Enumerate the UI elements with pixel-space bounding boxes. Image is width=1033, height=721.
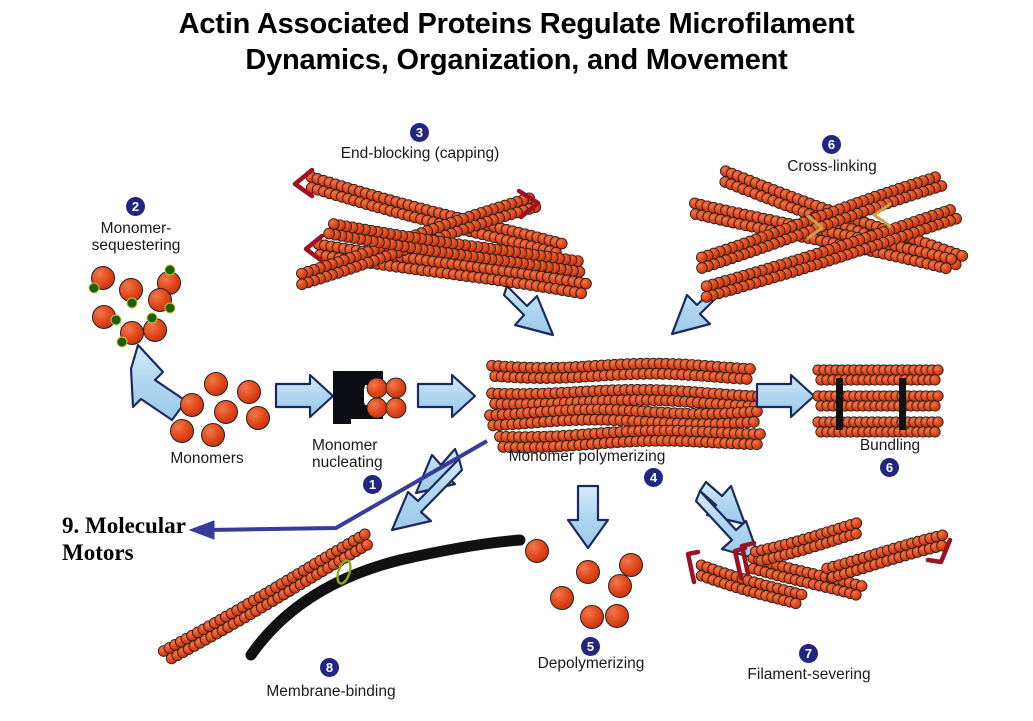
sequestered-monomer <box>144 313 167 342</box>
arrow-to-bundling <box>757 375 814 417</box>
diagram-canvas: Actin Associated Proteins Regulate Micro… <box>0 0 1033 721</box>
label-cross-linking: Cross-linking <box>762 158 902 175</box>
label-monomers: Monomers <box>152 450 262 467</box>
arrow-nucleating-to-polymerizing <box>418 375 475 417</box>
filament <box>487 358 756 384</box>
label-filament-severing: Filament-severing <box>729 666 889 683</box>
badge-bundling: 6 <box>880 458 899 477</box>
label-monomer-nucleating: Monomer nucleating <box>312 437 422 471</box>
monomer-nucleating-group <box>333 371 406 424</box>
label-molecular-motors: 9. Molecular Motors <box>62 512 282 566</box>
sequestered-monomer <box>117 322 144 348</box>
label-membrane-binding: Membrane-binding <box>252 683 410 700</box>
arrow-monomers-to-nucleating <box>276 375 333 417</box>
badge-sequestering: 2 <box>126 197 145 216</box>
arrow-to-severing <box>696 482 760 560</box>
label-monomer-nucleating-line1: Monomer <box>312 437 377 454</box>
badge-nucleating: 1 <box>363 475 382 494</box>
arrow-to-depolymerizing <box>568 486 608 548</box>
badge-depolymerizing: 5 <box>581 637 600 656</box>
bundling-filaments-group <box>813 365 943 437</box>
sequestered-monomer <box>89 267 115 294</box>
membrane-curve <box>251 540 520 655</box>
actin-diagram-artwork <box>0 0 1033 721</box>
badge-membrane-binding: 8 <box>320 658 339 677</box>
label-depolymerizing: Depolymerizing <box>520 655 662 672</box>
sequestered-monomer <box>93 306 122 329</box>
label-monomer-sequestering-line2: sequestering <box>92 237 181 254</box>
badge-crosslinking: 6 <box>822 135 841 154</box>
label-monomer-nucleating-line2: nucleating <box>312 454 383 471</box>
filament <box>813 365 943 385</box>
label-bundling: Bundling <box>835 437 945 454</box>
label-monomer-sequestering: Monomer- sequestering <box>66 220 206 254</box>
crosslinking-filaments-group <box>689 166 967 303</box>
arrow-to-sequestering <box>131 345 186 420</box>
badge-capping: 3 <box>410 123 429 142</box>
filament <box>813 391 943 411</box>
capping-filaments-group <box>295 170 591 299</box>
badge-severing: 7 <box>799 644 818 663</box>
sequestered-monomer <box>120 279 143 309</box>
free-monomers-group <box>171 373 270 447</box>
monomer-sequestering-group <box>89 265 181 347</box>
arrow-to-capping <box>504 286 553 335</box>
polymerizing-filaments-group <box>485 358 766 453</box>
label-end-blocking: End-blocking (capping) <box>330 145 510 162</box>
depolymerizing-monomers-group <box>526 540 643 629</box>
badge-polymerizing: 4 <box>644 468 663 487</box>
label-monomer-polymerizing: Monomer polymerizing <box>462 448 712 465</box>
label-monomer-sequestering-line1: Monomer- <box>101 220 172 237</box>
filament <box>813 417 943 437</box>
